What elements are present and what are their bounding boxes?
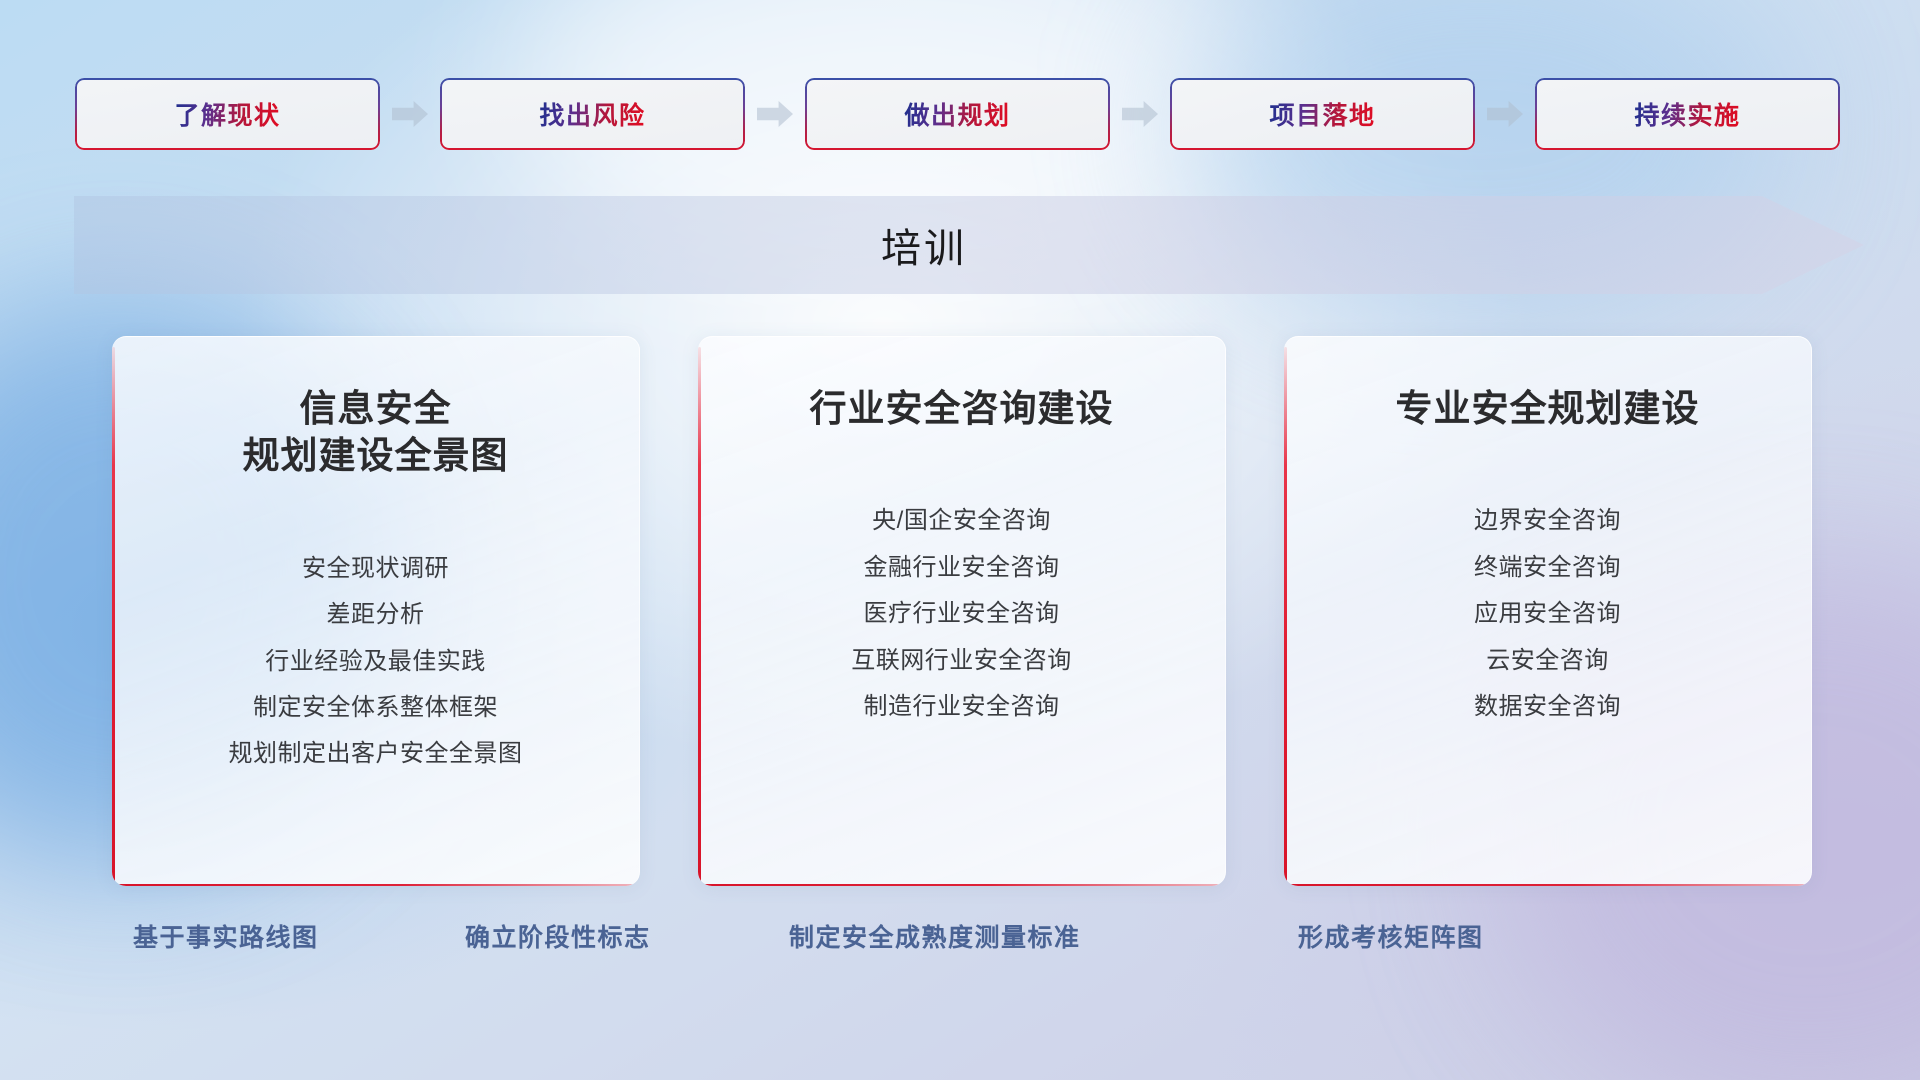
step-label-2: 找出风险 bbox=[539, 96, 645, 132]
step-box-4[interactable]: 项目落地 bbox=[1170, 78, 1475, 150]
caption-3: 制定安全成熟度测量标准 bbox=[789, 918, 1081, 954]
step-arrow-icon-4 bbox=[1475, 97, 1535, 131]
list-item: 数据安全咨询 bbox=[1474, 691, 1621, 723]
caption-4: 形成考核矩阵图 bbox=[1298, 918, 1484, 954]
list-item: 边界安全咨询 bbox=[1474, 505, 1621, 537]
banner-title: 培训 bbox=[881, 216, 967, 274]
list-item: 行业经验及最佳实践 bbox=[265, 646, 486, 678]
list-item: 制造行业安全咨询 bbox=[864, 691, 1060, 723]
list-item: 应用安全咨询 bbox=[1474, 598, 1621, 630]
caption-1: 基于事实路线图 bbox=[133, 918, 319, 954]
list-item: 央/国企安全咨询 bbox=[872, 505, 1051, 537]
step-arrow-icon-1 bbox=[380, 97, 440, 131]
step-label-4: 项目落地 bbox=[1269, 96, 1375, 132]
step-label-5: 持续实施 bbox=[1634, 96, 1740, 132]
list-item: 差距分析 bbox=[327, 599, 425, 631]
caption-2: 确立阶段性标志 bbox=[465, 918, 651, 954]
card-industry-security-consulting[interactable]: 行业安全咨询建设 央/国企安全咨询 金融行业安全咨询 医疗行业安全咨询 互联网行… bbox=[698, 336, 1226, 886]
step-box-5[interactable]: 持续实施 bbox=[1535, 78, 1840, 150]
list-item: 规划制定出客户安全全景图 bbox=[229, 738, 523, 770]
card-divider bbox=[146, 506, 605, 519]
list-item: 互联网行业安全咨询 bbox=[851, 645, 1072, 677]
slide-canvas: 了解现状 找出风险 做出规划 项目落地 持续实施 培训 信息安全 规划建设全景图… bbox=[0, 0, 1920, 1080]
card-title: 专业安全规划建设 bbox=[1396, 385, 1700, 432]
caption-row: 基于事实路线图 确立阶段性标志 制定安全成熟度测量标准 形成考核矩阵图 bbox=[0, 918, 1920, 968]
list-item: 医疗行业安全咨询 bbox=[864, 598, 1060, 630]
step-arrow-icon-3 bbox=[1110, 97, 1170, 131]
card-title: 行业安全咨询建设 bbox=[810, 385, 1114, 432]
step-box-2[interactable]: 找出风险 bbox=[440, 78, 745, 150]
list-item: 制定安全体系整体框架 bbox=[253, 692, 498, 724]
list-item: 金融行业安全咨询 bbox=[864, 552, 1060, 584]
card-title: 信息安全 规划建设全景图 bbox=[243, 385, 509, 480]
list-item: 云安全咨询 bbox=[1486, 645, 1609, 677]
card-divider bbox=[1318, 458, 1777, 471]
card-information-security-blueprint[interactable]: 信息安全 规划建设全景图 安全现状调研 差距分析 行业经验及最佳实践 制定安全体… bbox=[112, 336, 640, 886]
card-item-list: 边界安全咨询 终端安全咨询 应用安全咨询 云安全咨询 数据安全咨询 bbox=[1474, 505, 1621, 723]
training-banner: 培训 bbox=[74, 196, 1864, 294]
step-label-3: 做出规划 bbox=[904, 96, 1010, 132]
step-arrow-icon-2 bbox=[745, 97, 805, 131]
list-item: 终端安全咨询 bbox=[1474, 552, 1621, 584]
card-professional-security-planning[interactable]: 专业安全规划建设 边界安全咨询 终端安全咨询 应用安全咨询 云安全咨询 数据安全… bbox=[1284, 336, 1812, 886]
card-item-list: 安全现状调研 差距分析 行业经验及最佳实践 制定安全体系整体框架 规划制定出客户… bbox=[229, 553, 523, 771]
step-box-1[interactable]: 了解现状 bbox=[75, 78, 380, 150]
card-item-list: 央/国企安全咨询 金融行业安全咨询 医疗行业安全咨询 互联网行业安全咨询 制造行… bbox=[851, 505, 1072, 723]
step-label-1: 了解现状 bbox=[174, 96, 280, 132]
card-group: 信息安全 规划建设全景图 安全现状调研 差距分析 行业经验及最佳实践 制定安全体… bbox=[112, 336, 1812, 886]
list-item: 安全现状调研 bbox=[302, 553, 449, 585]
step-box-3[interactable]: 做出规划 bbox=[805, 78, 1110, 150]
process-steps: 了解现状 找出风险 做出规划 项目落地 持续实施 bbox=[75, 78, 1845, 150]
card-divider bbox=[732, 458, 1191, 471]
